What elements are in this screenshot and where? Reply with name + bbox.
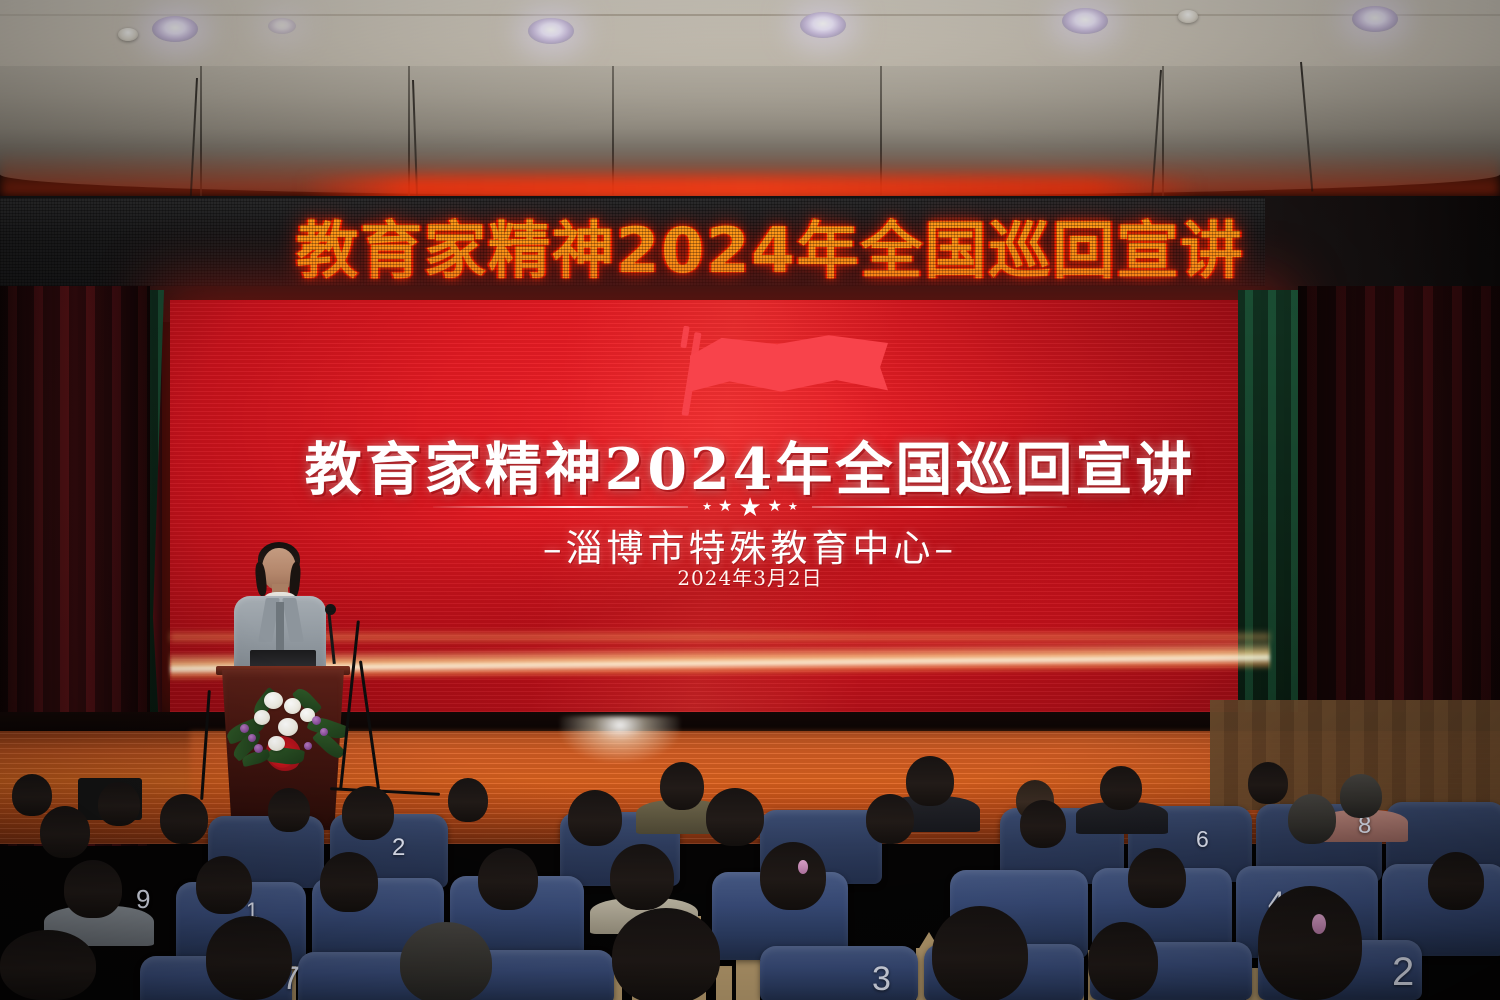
flag-pole-top [680, 326, 689, 349]
audience-seating: 8 6 2 4 9 1 [0, 756, 1500, 1000]
audience-head [1020, 800, 1066, 848]
audience-head [478, 848, 538, 910]
red-flag-graphic [660, 330, 890, 420]
star-3: ★ [738, 494, 761, 520]
led-banner-text: 教育家精神2024年全国巡回宣讲 [296, 200, 1245, 290]
white-flower [264, 692, 283, 709]
audience-head [1248, 762, 1288, 804]
white-flower [268, 736, 285, 751]
white-flower [284, 698, 301, 714]
purple-flower [320, 728, 328, 736]
audience-head [866, 794, 914, 844]
star-5: ★ [788, 502, 798, 513]
downlight-4 [1062, 8, 1108, 34]
seat[interactable] [760, 946, 918, 1000]
audience-head [12, 774, 52, 816]
downlight-1 [152, 16, 198, 42]
audience-head [1428, 852, 1484, 910]
audience-head [1088, 922, 1158, 1000]
audience-head [906, 756, 954, 806]
smoke-detector-1 [118, 28, 138, 41]
divider-stars: ★ ★ ★ ★ ★ [702, 494, 798, 520]
divider-line-left [433, 506, 688, 508]
flag-cloth [690, 334, 888, 398]
divider-line-right [812, 506, 1067, 508]
smoke-detector-2 [1178, 10, 1198, 23]
purple-flower [312, 716, 321, 725]
audience-head [448, 778, 488, 822]
audience-head [1128, 848, 1186, 908]
audience-head [400, 922, 492, 1000]
purple-flower [304, 742, 312, 750]
audience-head [268, 788, 310, 832]
audience-head [206, 916, 292, 1000]
audience-head [342, 786, 394, 840]
purple-flower [248, 734, 256, 742]
hair-clip [1312, 914, 1326, 934]
audience-head [1258, 886, 1362, 1000]
ceiling [0, 0, 1500, 72]
ceiling-seam [0, 14, 1500, 16]
seat-number: 3 [872, 960, 891, 999]
audience-head [160, 794, 208, 844]
downlight-2 [528, 18, 574, 44]
audience-head [64, 860, 122, 918]
downlight-3 [800, 12, 846, 38]
audience-head [660, 762, 704, 810]
seat-number: 6 [1196, 826, 1209, 853]
star-4: ★ [768, 499, 782, 515]
star-1: ★ [702, 502, 712, 513]
microphone-stand [327, 610, 336, 664]
seat-number: 2 [1392, 950, 1414, 995]
audience-head [706, 788, 764, 846]
audience-head [0, 930, 96, 1000]
audience-head [98, 782, 140, 826]
white-flower [278, 718, 298, 736]
downlight-5 [1352, 6, 1398, 32]
audience-head [932, 906, 1028, 1000]
star-2: ★ [718, 499, 732, 515]
banner-right-dark-area [1265, 196, 1500, 292]
auditorium-scene: 教育家精神2024年全国巡回宣讲 教育家精神2024年全国巡回宣讲 ★ ★ ★ … [0, 0, 1500, 1000]
audience-head [610, 844, 674, 910]
purple-flower [240, 724, 249, 733]
audience-head [40, 806, 90, 858]
audience-head [568, 790, 622, 846]
star-divider: ★ ★ ★ ★ ★ [0, 494, 1500, 520]
audience-head [196, 856, 252, 914]
hair-clip [798, 860, 808, 874]
led-ticker-banner: 教育家精神2024年全国巡回宣讲 [0, 196, 1265, 292]
audience-head [760, 842, 826, 910]
audience-head [1288, 794, 1336, 844]
audience-head [320, 852, 378, 912]
microphone-head [325, 604, 336, 615]
white-flower [254, 710, 270, 725]
audience-head [612, 908, 720, 1000]
downlight-6 [268, 18, 296, 34]
purple-flower [254, 744, 263, 753]
seat-number: 2 [392, 834, 405, 862]
audience-head [1100, 766, 1142, 810]
audience-head [1340, 774, 1382, 818]
